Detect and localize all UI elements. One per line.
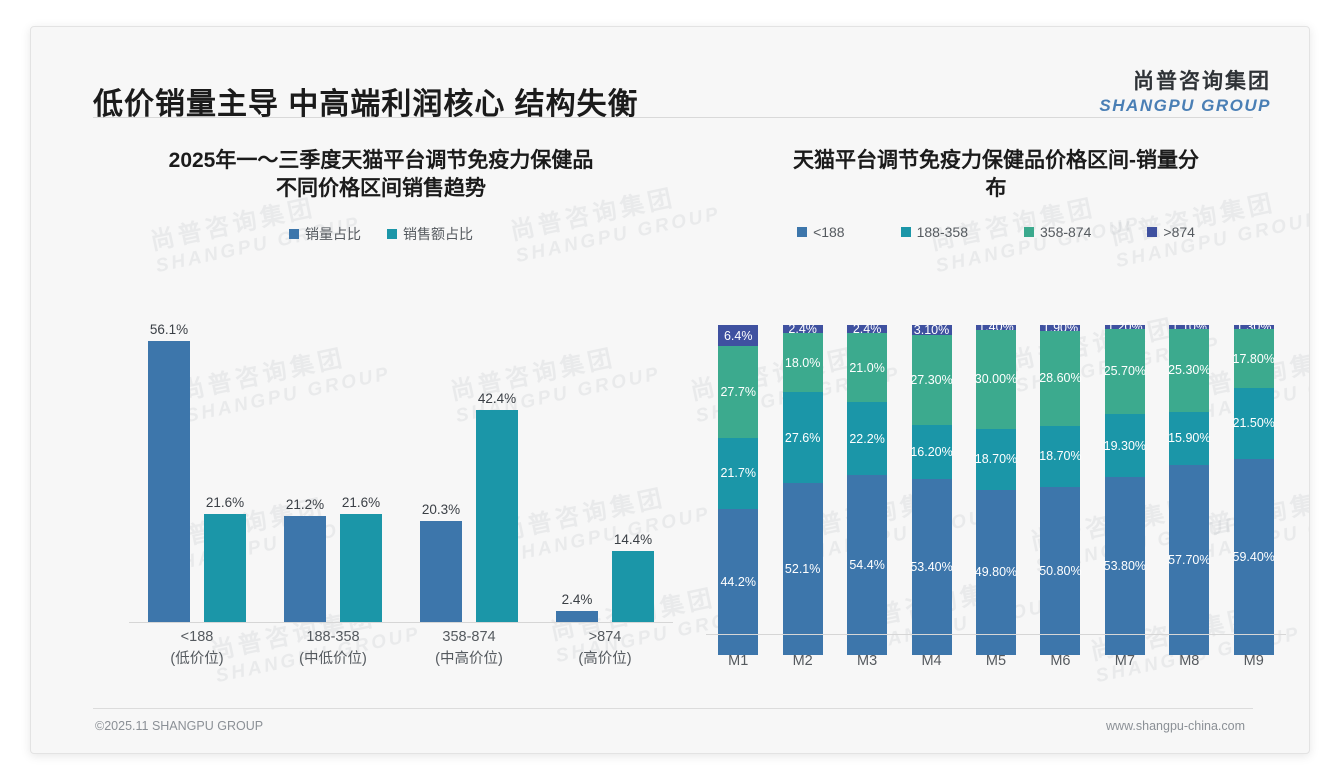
stack-segment-188-358[interactable]: 21.7% bbox=[718, 438, 758, 510]
stack-segment-358-874[interactable]: 21.0% bbox=[847, 333, 887, 402]
stacked-bar-column: 1.40%30.00%18.70%49.80% bbox=[964, 325, 1028, 635]
stack-segment-label: 15.90% bbox=[1168, 431, 1210, 445]
stack-segment-label: 30.00% bbox=[975, 372, 1017, 386]
stack-segment-label: 52.1% bbox=[785, 562, 820, 576]
chart-legend-right: <188188-358358-874>874 bbox=[696, 224, 1296, 240]
bar-group: 20.3%42.4% bbox=[401, 321, 537, 623]
grouped-bar-chart-panel: 2025年一～三季度天猫平台调节免疫力保健品 不同价格区间销售趋势 销量占比销售… bbox=[71, 125, 691, 705]
stacked-bar-column: 2.4%18.0%27.6%52.1% bbox=[770, 325, 834, 635]
stacked-bar[interactable]: 1.40%30.00%18.70%49.80% bbox=[976, 325, 1016, 655]
stack-segment-358-874[interactable]: 27.7% bbox=[718, 346, 758, 437]
stack-segment->874[interactable]: 6.4% bbox=[718, 325, 758, 346]
bar-value-label: 56.1% bbox=[150, 322, 188, 337]
stack-segment-label: 28.60% bbox=[1039, 371, 1081, 385]
stack-segment-label: 21.0% bbox=[849, 361, 884, 375]
stack-segment->874[interactable]: 2.4% bbox=[783, 325, 823, 333]
footer-website: www.shangpu-china.com bbox=[1106, 719, 1245, 733]
legend-swatch-icon bbox=[901, 227, 911, 237]
stacked-bar-chart-panel: 天猫平台调节免疫力保健品价格区间-销量分 布 <188188-358358-87… bbox=[696, 125, 1296, 705]
stack-segment->874[interactable]: 2.4% bbox=[847, 325, 887, 333]
stacked-bar-column: 1.20%25.70%19.30%53.80% bbox=[1093, 325, 1157, 635]
legend-label: <188 bbox=[813, 224, 845, 240]
x-axis-label-range: 358-874 bbox=[442, 629, 495, 645]
bar-column[interactable]: 20.3% bbox=[420, 321, 462, 623]
bar-rect[interactable] bbox=[148, 341, 190, 623]
chart-title-right-line2: 布 bbox=[986, 177, 1007, 200]
bar-value-label: 14.4% bbox=[614, 532, 652, 547]
bar-column[interactable]: 56.1% bbox=[148, 321, 190, 623]
legend-label: 销售额占比 bbox=[403, 224, 473, 244]
logo-text-cn: 尚普咨询集团 bbox=[1099, 65, 1271, 95]
x-axis-label-range: 188-358 bbox=[306, 629, 359, 645]
stack-segment-188-358[interactable]: 21.50% bbox=[1234, 388, 1274, 459]
x-axis-labels-right: M1M2M3M4M5M6M7M8M9 bbox=[706, 653, 1286, 669]
stack-segment-label: 18.70% bbox=[975, 452, 1017, 466]
stack-segment-label: 27.30% bbox=[910, 373, 952, 387]
legend-swatch-icon bbox=[797, 227, 807, 237]
bar-rect[interactable] bbox=[420, 521, 462, 623]
stack-segment-188-358[interactable]: 19.30% bbox=[1105, 414, 1145, 478]
stacked-bar[interactable]: 1.20%25.70%19.30%53.80% bbox=[1105, 325, 1145, 655]
stack-segment->874[interactable]: 3.10% bbox=[912, 325, 952, 335]
stack-segment-label: 18.70% bbox=[1039, 449, 1081, 463]
stack-segment-label: 21.7% bbox=[720, 466, 755, 480]
stack-segment-label: 54.4% bbox=[849, 558, 884, 572]
stack-segment-188-358[interactable]: 27.6% bbox=[783, 392, 823, 483]
company-logo: 尚普咨询集团 SHANGPU GROUP bbox=[1099, 65, 1271, 116]
stack-segment-188-358[interactable]: 15.90% bbox=[1169, 412, 1209, 464]
stack-segment-358-874[interactable]: 25.70% bbox=[1105, 329, 1145, 414]
bar-column[interactable]: 21.2% bbox=[284, 321, 326, 623]
bar-group: 21.2%21.6% bbox=[265, 321, 401, 623]
legend-item-358-874[interactable]: 358-874 bbox=[1024, 224, 1091, 240]
stack-segment-label: 27.7% bbox=[720, 385, 755, 399]
stack-segment-<188[interactable]: 53.80% bbox=[1105, 477, 1145, 655]
stack-segment-188-358[interactable]: 22.2% bbox=[847, 402, 887, 475]
stack-segment-358-874[interactable]: 27.30% bbox=[912, 335, 952, 425]
stack-segment-label: 6.4% bbox=[724, 329, 753, 343]
stack-segment-label: 22.2% bbox=[849, 432, 884, 446]
x-axis-line-right bbox=[706, 634, 1286, 635]
x-axis-label-<188: <188(低价位) bbox=[129, 627, 265, 687]
stacked-bar[interactable]: 3.10%27.30%16.20%53.40% bbox=[912, 325, 952, 655]
stacked-bar-column: 3.10%27.30%16.20%53.40% bbox=[899, 325, 963, 635]
grouped-bar-plot-area: 56.1%21.6%21.2%21.6%20.3%42.4%2.4%14.4% bbox=[129, 321, 673, 623]
stacked-bar[interactable]: 1.10%25.30%15.90%57.70% bbox=[1169, 325, 1209, 655]
bar-column[interactable]: 42.4% bbox=[476, 321, 518, 623]
bar-column[interactable]: 21.6% bbox=[340, 321, 382, 623]
stack-segment-label: 16.20% bbox=[910, 445, 952, 459]
x-axis-line-left bbox=[129, 622, 673, 623]
stack-segment-label: 25.70% bbox=[1104, 364, 1146, 378]
stacked-bar-column: 6.4%27.7%21.7%44.2% bbox=[706, 325, 770, 635]
stacked-bar-column: 1.10%25.30%15.90%57.70% bbox=[1157, 325, 1221, 635]
bar-column[interactable]: 14.4% bbox=[612, 321, 654, 623]
legend-item->874[interactable]: >874 bbox=[1147, 224, 1195, 240]
stack-segment-label: 19.30% bbox=[1104, 439, 1146, 453]
stack-segment-358-874[interactable]: 25.30% bbox=[1169, 329, 1209, 412]
x-axis-label-188-358: 188-358(中低价位) bbox=[265, 627, 401, 687]
legend-swatch-icon bbox=[289, 229, 299, 239]
x-axis-label-M8: M8 bbox=[1157, 653, 1221, 669]
stacked-bar[interactable]: 2.4%21.0%22.2%54.4% bbox=[847, 325, 887, 655]
x-axis-label-range: <188 bbox=[181, 629, 214, 645]
stack-segment-label: 53.80% bbox=[1104, 559, 1146, 573]
x-axis-label-M6: M6 bbox=[1028, 653, 1092, 669]
slide-canvas: 尚普咨询集团SHANGPU GROUP尚普咨询集团SHANGPU GROUP尚普… bbox=[30, 26, 1310, 754]
legend-swatch-icon bbox=[387, 229, 397, 239]
stack-segment-<188[interactable]: 50.80% bbox=[1040, 487, 1080, 655]
chart-legend-left: 销量占比销售额占比 bbox=[71, 224, 691, 244]
footer-divider bbox=[93, 708, 1253, 709]
x-axis-labels-left: <188(低价位)188-358(中低价位)358-874(中高价位)>874(… bbox=[129, 627, 673, 687]
legend-label: 销量占比 bbox=[305, 224, 361, 244]
bar-rect[interactable] bbox=[612, 551, 654, 623]
page-title: 低价销量主导 中高端利润核心 结构失衡 bbox=[93, 79, 639, 123]
x-axis-label-M3: M3 bbox=[835, 653, 899, 669]
stack-segment-188-358[interactable]: 18.70% bbox=[1040, 426, 1080, 488]
bar-rect[interactable] bbox=[204, 514, 246, 623]
stack-segment-<188[interactable]: 57.70% bbox=[1169, 465, 1209, 655]
stacked-bar[interactable]: 2.4%18.0%27.6%52.1% bbox=[783, 325, 823, 655]
stack-segment-358-874[interactable]: 18.0% bbox=[783, 333, 823, 392]
chart-title-left: 2025年一～三季度天猫平台调节免疫力保健品 不同价格区间销售趋势 bbox=[71, 147, 691, 202]
bar-value-label: 21.2% bbox=[286, 497, 324, 512]
stack-segment-label: 57.70% bbox=[1168, 553, 1210, 567]
bar-group: 2.4%14.4% bbox=[537, 321, 673, 623]
stack-segment-label: 49.80% bbox=[975, 565, 1017, 579]
bar-rect[interactable] bbox=[284, 516, 326, 623]
chart-title-right: 天猫平台调节免疫力保健品价格区间-销量分 布 bbox=[696, 147, 1296, 202]
footer-copyright: ©2025.11 SHANGPU GROUP bbox=[95, 719, 263, 733]
stacked-bar-plot-area: 6.4%27.7%21.7%44.2%2.4%18.0%27.6%52.1%2.… bbox=[706, 325, 1286, 635]
stack-segment-188-358[interactable]: 18.70% bbox=[976, 429, 1016, 491]
x-axis-label-M9: M9 bbox=[1222, 653, 1286, 669]
stack-segment-label: 27.6% bbox=[785, 431, 820, 445]
x-axis-label-tier: (低价位) bbox=[129, 649, 265, 671]
stack-segment-<188[interactable]: 52.1% bbox=[783, 483, 823, 655]
legend-item-<188[interactable]: <188 bbox=[797, 224, 845, 240]
bar-value-label: 2.4% bbox=[562, 592, 593, 607]
stacked-bar[interactable]: 6.4%27.7%21.7%44.2% bbox=[718, 325, 758, 655]
legend-item-销售额占比[interactable]: 销售额占比 bbox=[387, 224, 473, 244]
chart-title-right-line1: 天猫平台调节免疫力保健品价格区间-销量分 bbox=[793, 149, 1199, 172]
stack-segment-label: 53.40% bbox=[910, 560, 952, 574]
stack-segment-label: 18.0% bbox=[785, 356, 820, 370]
x-axis-label-M1: M1 bbox=[706, 653, 770, 669]
bar-group: 56.1%21.6% bbox=[129, 321, 265, 623]
stacked-bar-column: 1.30%17.80%21.50%59.40% bbox=[1222, 325, 1286, 635]
legend-label: 188-358 bbox=[917, 224, 968, 240]
x-axis-label-M4: M4 bbox=[899, 653, 963, 669]
chart-title-left-line2: 不同价格区间销售趋势 bbox=[276, 177, 486, 200]
stack-segment-<188[interactable]: 54.4% bbox=[847, 475, 887, 655]
slide-header: 低价销量主导 中高端利润核心 结构失衡 尚普咨询集团 SHANGPU GROUP bbox=[31, 27, 1309, 115]
legend-label: >874 bbox=[1163, 224, 1195, 240]
x-axis-label-358-874: 358-874(中高价位) bbox=[401, 627, 537, 687]
stack-segment-label: 17.80% bbox=[1233, 352, 1275, 366]
stack-segment-label: 50.80% bbox=[1039, 564, 1081, 578]
logo-text-en: SHANGPU GROUP bbox=[1099, 96, 1271, 116]
bar-value-label: 21.6% bbox=[342, 495, 380, 510]
bar-value-label: 42.4% bbox=[478, 391, 516, 406]
stack-segment-label: 25.30% bbox=[1168, 363, 1210, 377]
stack-segment-<188[interactable]: 53.40% bbox=[912, 479, 952, 655]
stack-segment-<188[interactable]: 59.40% bbox=[1234, 459, 1274, 655]
stack-segment-358-874[interactable]: 28.60% bbox=[1040, 331, 1080, 425]
legend-swatch-icon bbox=[1024, 227, 1034, 237]
x-axis-label-tier: (中低价位) bbox=[265, 649, 401, 671]
x-axis-label-range: >874 bbox=[589, 629, 622, 645]
x-axis-label-tier: (高价位) bbox=[537, 649, 673, 671]
stacked-bar[interactable]: 1.30%17.80%21.50%59.40% bbox=[1234, 325, 1274, 655]
stack-segment-label: 21.50% bbox=[1233, 416, 1275, 430]
bar-rect[interactable] bbox=[340, 514, 382, 623]
chart-title-left-line1: 2025年一～三季度天猫平台调节免疫力保健品 bbox=[169, 149, 594, 172]
x-axis-label-M2: M2 bbox=[770, 653, 834, 669]
bar-rect[interactable] bbox=[476, 410, 518, 623]
legend-item-188-358[interactable]: 188-358 bbox=[901, 224, 968, 240]
stack-segment-label: 44.2% bbox=[720, 575, 755, 589]
x-axis-label-tier: (中高价位) bbox=[401, 649, 537, 671]
stacked-bar-column: 2.4%21.0%22.2%54.4% bbox=[835, 325, 899, 635]
legend-swatch-icon bbox=[1147, 227, 1157, 237]
legend-label: 358-874 bbox=[1040, 224, 1091, 240]
stack-segment-358-874[interactable]: 17.80% bbox=[1234, 329, 1274, 388]
bar-column[interactable]: 2.4% bbox=[556, 321, 598, 623]
stack-segment-label: 59.40% bbox=[1233, 550, 1275, 564]
bar-value-label: 20.3% bbox=[422, 502, 460, 517]
x-axis-label-M5: M5 bbox=[964, 653, 1028, 669]
x-axis-label-M7: M7 bbox=[1093, 653, 1157, 669]
stack-segment-188-358[interactable]: 16.20% bbox=[912, 425, 952, 478]
bar-value-label: 21.6% bbox=[206, 495, 244, 510]
legend-item-销量占比[interactable]: 销量占比 bbox=[289, 224, 361, 244]
stacked-bar-column: 1.90%28.60%18.70%50.80% bbox=[1028, 325, 1092, 635]
stack-segment-<188[interactable]: 49.80% bbox=[976, 490, 1016, 654]
bar-column[interactable]: 21.6% bbox=[204, 321, 246, 623]
stack-segment-358-874[interactable]: 30.00% bbox=[976, 330, 1016, 429]
stacked-bar[interactable]: 1.90%28.60%18.70%50.80% bbox=[1040, 325, 1080, 655]
x-axis-label->874: >874(高价位) bbox=[537, 627, 673, 687]
